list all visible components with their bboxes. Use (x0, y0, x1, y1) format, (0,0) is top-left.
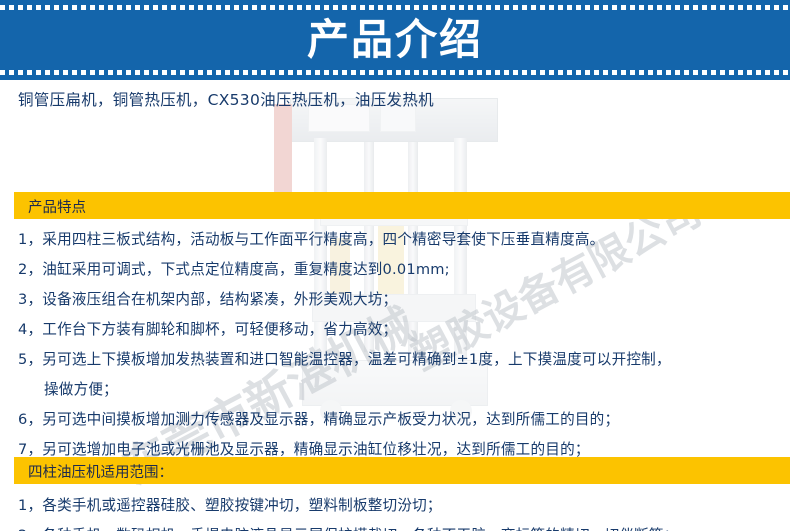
application-item-2: 2，各种手机、数码相机、手堤电脑液晶显示屏保护摸裁切，各种不干胶、商标等的精切，… (18, 524, 678, 531)
product-introduction-page: 产品介绍 东莞市新湛机械 塑胶设备有限公司 铜管压扁机，铜管热压机，CX5 (0, 0, 790, 531)
section-heading-label-features: 产品特点 (28, 196, 86, 217)
section-heading-bar-features: 产品特点 (14, 192, 790, 219)
feature-item-1: 1，采用四柱三板式结构，活动板与工作面平行精度高，四个精密导套使下压垂直精度高。 (18, 228, 604, 249)
intro-keywords-line: 铜管压扁机，铜管热压机，CX530油压热压机，油压发热机 (18, 88, 434, 110)
feature-item-3: 3，设备液压组合在机架内部，结构紧凑，外形美观大坊； (18, 288, 397, 309)
feature-item-7: 7，另可选增加电子池或光栅池及显示器，精确显示油缸位移壮况，达到所儒工的目的； (18, 438, 590, 459)
text-layer: 铜管压扁机，铜管热压机，CX530油压热压机，油压发热机 产品特点 1，采用四柱… (0, 80, 790, 531)
feature-item-6: 6，另可选中间摸板增加测力传感器及显示器，精确显示产板受力状况，达到所儒工的目的… (18, 408, 619, 429)
application-item-1: 1，各类手机或遥控器硅胶、塑胶按键冲切，塑料制板整切汾切； (18, 494, 442, 515)
content-area: 东莞市新湛机械 塑胶设备有限公司 铜管压扁机，铜管热压机，CX530油压热压机，… (0, 80, 790, 531)
banner-dotted-rule-top (0, 5, 790, 10)
feature-item-5-continued: 操做方便； (44, 378, 118, 399)
feature-item-4: 4，工作台下方装有脚轮和脚杯，可轻便移动，省力高效； (18, 318, 397, 339)
page-title: 产品介绍 (0, 16, 790, 64)
page-banner: 产品介绍 (0, 0, 790, 80)
feature-item-5: 5，另可选上下摸板增加发热装置和进口智能温控器，温差可精确到±1度，上下摸温度可… (18, 348, 671, 369)
feature-item-2: 2，油缸采用可调式，下式点定位精度高，重复精度达到0.01mm; (18, 258, 450, 279)
banner-dotted-rule-bottom (0, 70, 790, 75)
section-heading-label-applications: 四柱油压机适用范围： (28, 461, 173, 482)
section-heading-bar-applications: 四柱油压机适用范围： (14, 457, 790, 484)
